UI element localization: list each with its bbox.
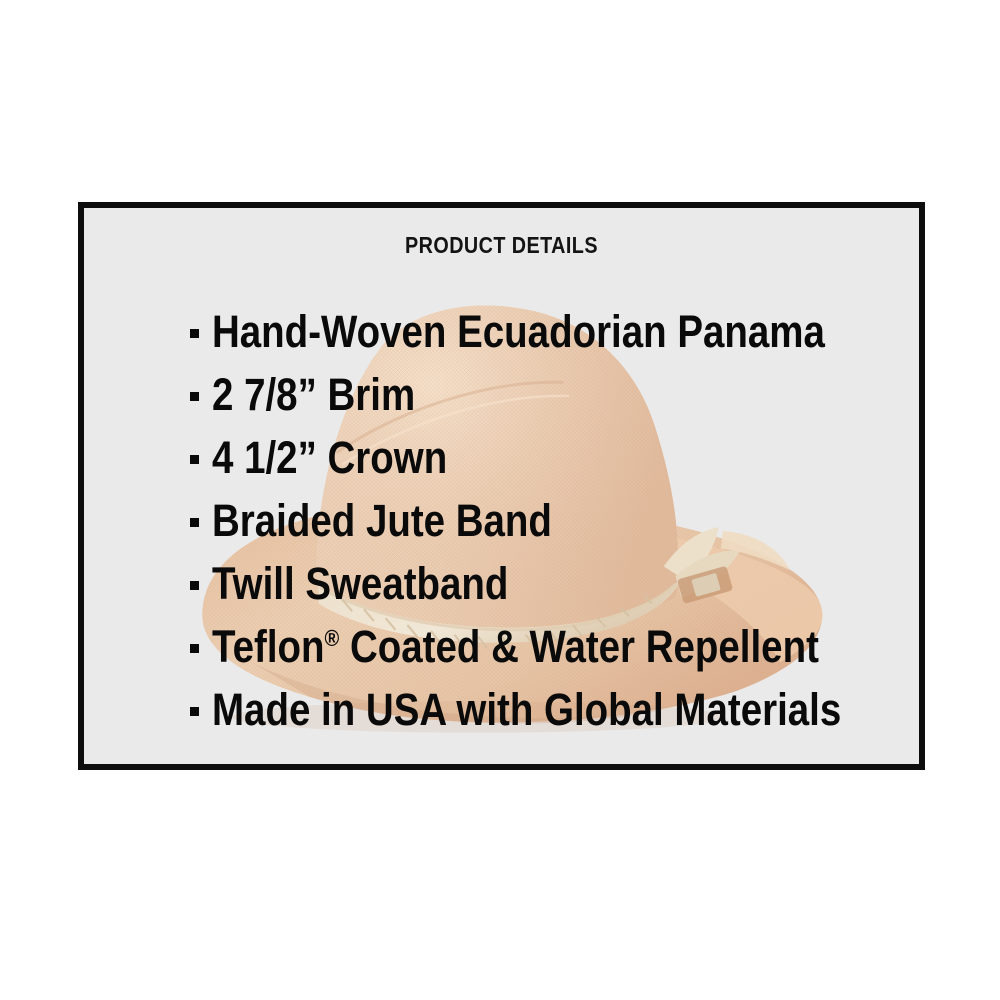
feature-item-hand-woven: Hand-Woven Ecuadorian Panama xyxy=(190,300,909,363)
square-bullet-icon xyxy=(190,644,199,653)
details-content: PRODUCT DETAILS Hand-Woven Ecuadorian Pa… xyxy=(84,208,919,764)
feature-label: 4 1/2” Crown xyxy=(212,435,447,480)
feature-label: Made in USA with Global Materials xyxy=(212,687,841,732)
square-bullet-icon xyxy=(190,455,199,464)
feature-label: 2 7/8” Brim xyxy=(212,372,415,417)
feature-item-brim: 2 7/8” Brim xyxy=(190,363,909,426)
square-bullet-icon xyxy=(190,707,199,716)
section-title: PRODUCT DETAILS xyxy=(142,232,860,259)
square-bullet-icon xyxy=(190,329,199,338)
feature-label: Twill Sweatband xyxy=(212,561,508,606)
feature-item-teflon: Teflon® Coated & Water Repellent xyxy=(190,615,909,678)
square-bullet-icon xyxy=(190,392,199,401)
product-details-card: PRODUCT DETAILS Hand-Woven Ecuadorian Pa… xyxy=(78,202,925,770)
feature-list: Hand-Woven Ecuadorian Panama 2 7/8” Brim… xyxy=(190,300,909,741)
feature-item-sweatband: Twill Sweatband xyxy=(190,552,909,615)
feature-label: Teflon® Coated & Water Repellent xyxy=(212,624,819,669)
product-details-page: PRODUCT DETAILS Hand-Woven Ecuadorian Pa… xyxy=(0,0,1000,1000)
feature-item-crown: 4 1/2” Crown xyxy=(190,426,909,489)
feature-item-jute-band: Braided Jute Band xyxy=(190,489,909,552)
feature-label: Hand-Woven Ecuadorian Panama xyxy=(212,309,825,354)
square-bullet-icon xyxy=(190,581,199,590)
feature-item-made-in-usa: Made in USA with Global Materials xyxy=(190,678,909,741)
feature-label: Braided Jute Band xyxy=(212,498,552,543)
square-bullet-icon xyxy=(190,518,199,527)
